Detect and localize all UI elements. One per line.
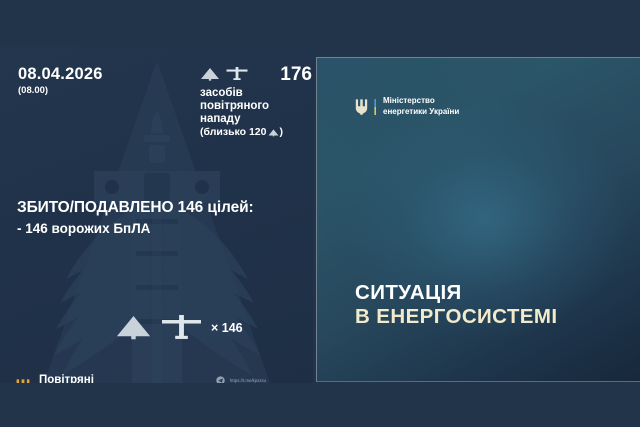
report-date-block: 08.04.2026 (08.00) xyxy=(18,66,103,95)
ministry-logo-divider xyxy=(374,99,377,115)
intercept-result-block: ЗБИТО/ПОДАВЛЕНО 146 цілей: - 146 ворожих… xyxy=(17,199,254,237)
intercept-tally-block: × 146 xyxy=(115,315,243,341)
intercept-result-line-1: - 146 ворожих БпЛА xyxy=(17,221,254,237)
ministry-name: Міністерство енергетики України xyxy=(383,96,459,117)
telegram-url: https://t.me/kpszsu xyxy=(230,378,266,383)
ministry-name-line1: Міністерство xyxy=(383,96,459,107)
ministry-name-line2: енергетики України xyxy=(383,107,459,118)
energy-system-card-panel: Міністерство енергетики України СИТУАЦІЯ… xyxy=(316,57,640,382)
air-force-brand: Повітряні Сили xyxy=(16,374,94,383)
energy-card-title-line2: В ЕНЕРГОСИСТЕМІ xyxy=(355,305,557,329)
attack-count: 176 xyxy=(280,65,312,84)
attack-approx: (близько 120 ) xyxy=(200,127,312,139)
air-force-brand-text: Повітряні Сили xyxy=(39,374,94,383)
tryzub-icon xyxy=(355,99,368,115)
attack-label-line2: повітряного xyxy=(200,100,312,113)
attack-label-line3: нападу xyxy=(200,113,312,126)
air-force-brand-line1: Повітряні xyxy=(39,374,94,383)
tryzub-icon xyxy=(16,379,30,383)
ministry-logo: Міністерство енергетики України xyxy=(355,96,459,117)
telegram-icon xyxy=(216,376,225,383)
attack-summary-block: 176 засобів повітряного нападу (близько … xyxy=(200,63,312,139)
attack-label-line1: засобів xyxy=(200,87,312,100)
intercept-tally-multiplier: × 146 xyxy=(211,321,243,335)
shahed-drone-icon xyxy=(115,316,152,340)
shahed-drone-icon xyxy=(268,129,279,137)
attack-summary-head: 176 xyxy=(200,63,312,85)
intercept-result-title: ЗБИТО/ПОДАВЛЕНО 146 цілей: xyxy=(17,199,254,217)
infographic-canvas: 08.04.2026 (08.00) 176 засобів повітряно… xyxy=(0,0,640,427)
social-links: https://t.me/kpszsu https://www.facebook… xyxy=(216,376,295,383)
fixed-wing-drone-icon xyxy=(226,67,248,81)
fixed-wing-drone-icon xyxy=(161,315,202,341)
report-date: 08.04.2026 xyxy=(18,66,103,83)
attack-label: засобів повітряного нападу xyxy=(200,87,312,126)
air-force-attack-report-panel: 08.04.2026 (08.00) 176 засобів повітряно… xyxy=(0,47,313,383)
social-link-telegram[interactable]: https://t.me/kpszsu xyxy=(216,376,295,383)
energy-card-title-line1: СИТУАЦІЯ xyxy=(355,281,557,305)
attack-approx-suffix: ) xyxy=(280,127,284,139)
report-time: (08.00) xyxy=(18,86,103,96)
energy-card-title: СИТУАЦІЯ В ЕНЕРГОСИСТЕМІ xyxy=(355,281,557,329)
shahed-drone-icon xyxy=(200,68,220,81)
attack-approx-prefix: (близько 120 xyxy=(200,127,267,139)
